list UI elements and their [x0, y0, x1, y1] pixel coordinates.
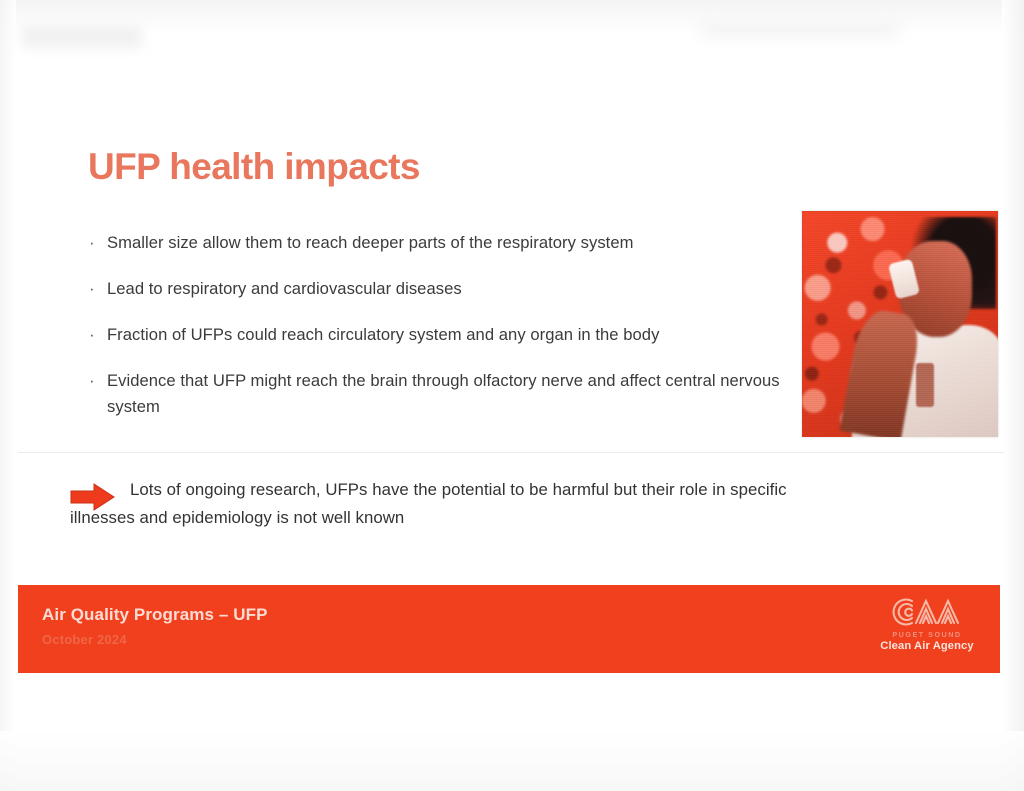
page-title: UFP health impacts — [88, 146, 420, 188]
agency-logo: PUGET SOUND Clean Air Agency — [872, 595, 982, 652]
bullet-list: · Smaller size allow them to reach deepe… — [86, 230, 786, 440]
scanned-page: UFP health impacts · Smaller size allow … — [0, 0, 1024, 791]
list-item-label: Fraction of UFPs could reach circulatory… — [107, 322, 786, 348]
bullet-dot-icon: · — [86, 230, 107, 256]
scan-edge-shadow-bottom — [0, 731, 1024, 791]
health-impacts-photo — [802, 211, 998, 437]
list-item: · Smaller size allow them to reach deepe… — [86, 230, 786, 256]
footer-title: Air Quality Programs – UFP — [42, 605, 268, 625]
right-arrow-icon — [70, 482, 116, 512]
content-divider — [18, 452, 1004, 453]
photo-scan-grain — [802, 211, 998, 437]
caa-logo-icon — [888, 595, 966, 629]
bullet-dot-icon: · — [86, 322, 107, 348]
callout-block: Lots of ongoing research, UFPs have the … — [70, 476, 830, 532]
list-item-label: Lead to respiratory and cardiovascular d… — [107, 276, 786, 302]
slide-footer-bar: Air Quality Programs – UFP October 2024 — [18, 585, 1000, 673]
list-item-label: Smaller size allow them to reach deeper … — [107, 230, 786, 256]
list-item: · Fraction of UFPs could reach circulato… — [86, 322, 786, 348]
bullet-dot-icon: · — [86, 368, 107, 394]
presentation-slide: UFP health impacts · Smaller size allow … — [18, 34, 1004, 674]
list-item: · Evidence that UFP might reach the brai… — [86, 368, 786, 420]
bullet-dot-icon: · — [86, 276, 107, 302]
callout-text: Lots of ongoing research, UFPs have the … — [70, 476, 830, 532]
list-item-label: Evidence that UFP might reach the brain … — [107, 368, 786, 420]
scan-edge-shadow-right — [1002, 0, 1024, 791]
footer-date: October 2024 — [42, 632, 127, 647]
list-item: · Lead to respiratory and cardiovascular… — [86, 276, 786, 302]
logo-name: Clean Air Agency — [872, 640, 982, 652]
logo-subtitle: PUGET SOUND — [872, 630, 982, 639]
scan-edge-shadow-left — [0, 0, 16, 791]
